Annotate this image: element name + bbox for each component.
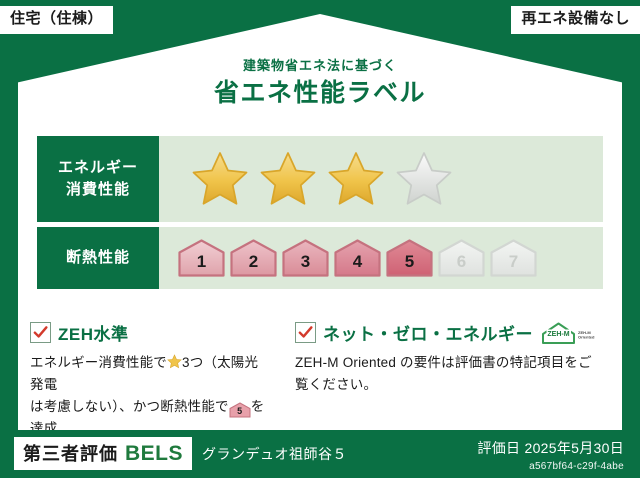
star-filled-icon <box>189 149 251 209</box>
star-filled-icon <box>325 149 387 209</box>
evaluation-date: 評価日 2025年5月30日 <box>477 438 624 458</box>
insulation-level-value: 3 <box>301 253 310 278</box>
renewable-energy-tag: 再エネ設備なし <box>511 6 640 34</box>
zeh-heading: ZEH水準 <box>30 320 267 345</box>
label-footer: 第三者評価 BELS グランデュオ祖師谷５ 評価日 2025年5月30日 a56… <box>0 430 640 478</box>
building-type-tag: 住宅（住棟） <box>0 6 113 34</box>
insulation-level-value: 6 <box>457 253 466 278</box>
title-subtitle: 建築物省エネ法に基づく <box>0 58 640 74</box>
zeh-text-a: エネルギー消費性能で <box>30 355 167 370</box>
zeh-text-c: は考慮しない）、かつ断熱性能で <box>30 399 229 414</box>
netzero-description: ZEH-M Oriented の要件は評価書の特記項目をご覧ください。 <box>295 352 596 396</box>
energy-performance-label: エネルギー 消費性能 <box>37 136 159 222</box>
insulation-level-value: 5 <box>405 253 414 278</box>
netzero-title: ネット・ゼロ・エネルギー <box>323 320 533 345</box>
bels-jp-label: 第三者評価 <box>23 440 118 466</box>
insulation-level-badge: 5 <box>385 238 434 278</box>
zeh-criteria-block: ZEH水準 エネルギー消費性能で3つ（太陽光発電は考慮しない）、かつ断熱性能で5… <box>30 320 281 440</box>
insulation-level-value: 7 <box>509 253 518 278</box>
footer-right-group: 評価日 2025年5月30日 a567bf64-c29f-4abe <box>477 438 624 472</box>
insulation-level-badge: 3 <box>281 238 330 278</box>
star-empty-icon <box>393 149 455 209</box>
insulation-level-badge: 7 <box>489 238 538 278</box>
label-title-block: 建築物省エネ法に基づく 省エネ性能ラベル <box>0 58 640 109</box>
insulation-level-badge: 2 <box>229 238 278 278</box>
insulation-level-value: 2 <box>249 253 258 278</box>
insulation-performance-value: 1234567 <box>159 227 603 289</box>
insulation-level-value: 1 <box>197 253 206 278</box>
energy-label-line2: 消費性能 <box>66 179 130 201</box>
inline-badge-value: 5 <box>229 402 251 421</box>
zeh-title: ZEH水準 <box>58 320 129 345</box>
insulation-performance-row: 断熱性能 1234567 <box>37 227 603 289</box>
netzero-heading: ネット・ゼロ・エネルギー ZEH-M ZEH-M Oriented <box>295 320 596 345</box>
check-icon <box>33 325 48 340</box>
inline-star-icon <box>167 354 182 369</box>
zeh-description: エネルギー消費性能で3つ（太陽光発電は考慮しない）、かつ断熱性能で5を達成 <box>30 352 267 440</box>
insulation-performance-label: 断熱性能 <box>37 227 159 289</box>
performance-panel: エネルギー 消費性能 断熱性能 1234567 <box>37 136 603 289</box>
bels-en-label: BELS <box>125 442 183 466</box>
energy-performance-row: エネルギー 消費性能 <box>37 136 603 222</box>
check-icon <box>298 325 313 340</box>
insulation-level-scale: 1234567 <box>177 238 538 278</box>
energy-label-line1: エネルギー <box>58 157 138 179</box>
energy-performance-value <box>159 136 603 222</box>
insulation-level-value: 4 <box>353 253 362 278</box>
insulation-label-text: 断熱性能 <box>66 247 130 269</box>
insulation-level-badge: 1 <box>177 238 226 278</box>
energy-label-root: 住宅（住棟） 再エネ設備なし 建築物省エネ法に基づく 省エネ性能ラベル エネルギ… <box>0 0 640 478</box>
insulation-level-badge: 6 <box>437 238 486 278</box>
svg-text:ZEH-M: ZEH-M <box>547 331 569 338</box>
zeh-checkbox[interactable] <box>30 322 51 343</box>
building-name: グランデュオ祖師谷５ <box>202 444 347 464</box>
inline-insulation-badge: 5 <box>229 402 251 418</box>
bels-badge: 第三者評価 BELS <box>14 437 192 470</box>
criteria-section: ZEH水準 エネルギー消費性能で3つ（太陽光発電は考慮しない）、かつ断熱性能で5… <box>30 320 610 440</box>
netzero-criteria-block: ネット・ゼロ・エネルギー ZEH-M ZEH-M Oriented ZEH-M … <box>281 320 610 440</box>
footer-left-group: 第三者評価 BELS グランデュオ祖師谷５ <box>14 437 347 470</box>
svg-text:Oriented: Oriented <box>578 334 595 339</box>
page-title: 省エネ性能ラベル <box>0 77 640 110</box>
zeh-m-logo-icon: ZEH-M ZEH-M Oriented <box>540 321 596 345</box>
evaluation-id: a567bf64-c29f-4abe <box>477 461 624 472</box>
star-filled-icon <box>257 149 319 209</box>
star-rating <box>189 149 455 209</box>
netzero-checkbox[interactable] <box>295 322 316 343</box>
insulation-level-badge: 4 <box>333 238 382 278</box>
